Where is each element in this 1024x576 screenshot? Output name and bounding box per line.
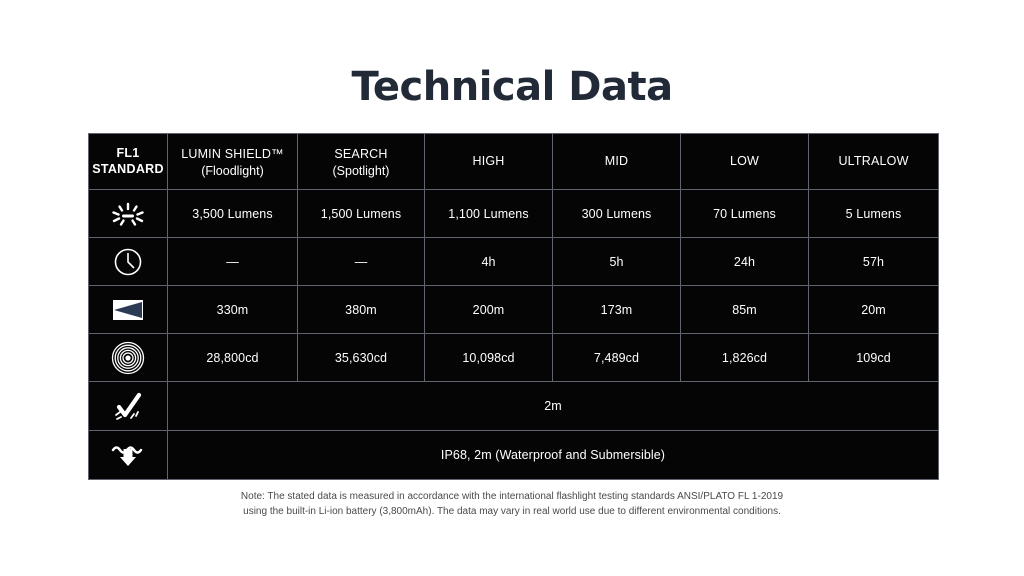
cell-value: 380m <box>298 286 425 334</box>
cell-value: 10,098cd <box>425 334 553 382</box>
page-title: Technical Data <box>0 64 1024 110</box>
cell-value: 70 Lumens <box>681 190 809 238</box>
cell-value: 4h <box>425 238 553 286</box>
table-row: — — 4h 5h 24h 57h <box>89 238 939 286</box>
cell-value: 330m <box>168 286 298 334</box>
table-row: IP68, 2m (Waterproof and Submersible) <box>89 431 939 480</box>
header-cell-ultralow: ULTRALOW <box>809 134 939 190</box>
footnote-line-1: Note: The stated data is measured in acc… <box>0 489 1024 504</box>
cell-value: 28,800cd <box>168 334 298 382</box>
cell-value: — <box>168 238 298 286</box>
cell-value: 1,100 Lumens <box>425 190 553 238</box>
cell-value-span: IP68, 2m (Waterproof and Submersible) <box>168 431 939 480</box>
cell-value: 300 Lumens <box>553 190 681 238</box>
footnote: Note: The stated data is measured in acc… <box>0 489 1024 519</box>
fl1-label-line2: STANDARD <box>89 162 167 178</box>
header-low-title: LOW <box>681 152 808 170</box>
table-header-row: FL1 STANDARD LUMIN SHIELD™ (Floodlight) … <box>89 134 939 190</box>
cell-value: 20m <box>809 286 939 334</box>
light-output-burst-icon <box>89 190 168 238</box>
runtime-clock-icon <box>89 238 168 286</box>
header-search-title: SEARCH <box>298 145 424 163</box>
cell-value: 5h <box>553 238 681 286</box>
cell-value: 3,500 Lumens <box>168 190 298 238</box>
footnote-line-2: using the built-in Li-ion battery (3,800… <box>0 504 1024 519</box>
beam-distance-icon <box>89 286 168 334</box>
header-lumin-shield-subtitle: (Floodlight) <box>168 164 297 178</box>
cell-value: 7,489cd <box>553 334 681 382</box>
table-row: 2m <box>89 382 939 431</box>
water-resistance-value: IP68, 2m (Waterproof and Submersible) <box>441 448 665 462</box>
header-mid-title: MID <box>553 152 680 170</box>
technical-data-table: FL1 STANDARD LUMIN SHIELD™ (Floodlight) … <box>88 133 939 480</box>
fl1-label-line1: FL1 <box>89 146 167 162</box>
cell-value-span: 2m <box>168 382 939 431</box>
cell-value: 200m <box>425 286 553 334</box>
header-cell-lumin-shield: LUMIN SHIELD™ (Floodlight) <box>168 134 298 190</box>
cell-value: 109cd <box>809 334 939 382</box>
cell-value: 35,630cd <box>298 334 425 382</box>
impact-resistance-value: 2m <box>544 399 562 413</box>
header-cell-mid: MID <box>553 134 681 190</box>
header-ultralow-title: ULTRALOW <box>809 152 938 170</box>
header-cell-low: LOW <box>681 134 809 190</box>
peak-beam-intensity-icon <box>89 334 168 382</box>
cell-value: 1,826cd <box>681 334 809 382</box>
table-row: 330m 380m 200m 173m 85m 20m <box>89 286 939 334</box>
impact-resistance-icon <box>89 382 168 431</box>
cell-value: — <box>298 238 425 286</box>
water-resistance-icon <box>89 431 168 480</box>
cell-value: 5 Lumens <box>809 190 939 238</box>
table-row: 28,800cd 35,630cd 10,098cd 7,489cd 1,826… <box>89 334 939 382</box>
header-cell-fl1-standard: FL1 STANDARD <box>89 134 168 190</box>
header-cell-search: SEARCH (Spotlight) <box>298 134 425 190</box>
cell-value: 85m <box>681 286 809 334</box>
header-cell-high: HIGH <box>425 134 553 190</box>
table-row: 3,500 Lumens 1,500 Lumens 1,100 Lumens 3… <box>89 190 939 238</box>
technical-data-table-container: FL1 STANDARD LUMIN SHIELD™ (Floodlight) … <box>88 133 938 480</box>
header-search-subtitle: (Spotlight) <box>298 164 424 178</box>
header-high-title: HIGH <box>425 152 552 170</box>
cell-value: 1,500 Lumens <box>298 190 425 238</box>
cell-value: 57h <box>809 238 939 286</box>
cell-value: 173m <box>553 286 681 334</box>
technical-data-page: Technical Data FL1 STANDARD LUMIN SHIELD… <box>0 0 1024 576</box>
header-lumin-shield-title: LUMIN SHIELD™ <box>168 145 297 163</box>
cell-value: 24h <box>681 238 809 286</box>
